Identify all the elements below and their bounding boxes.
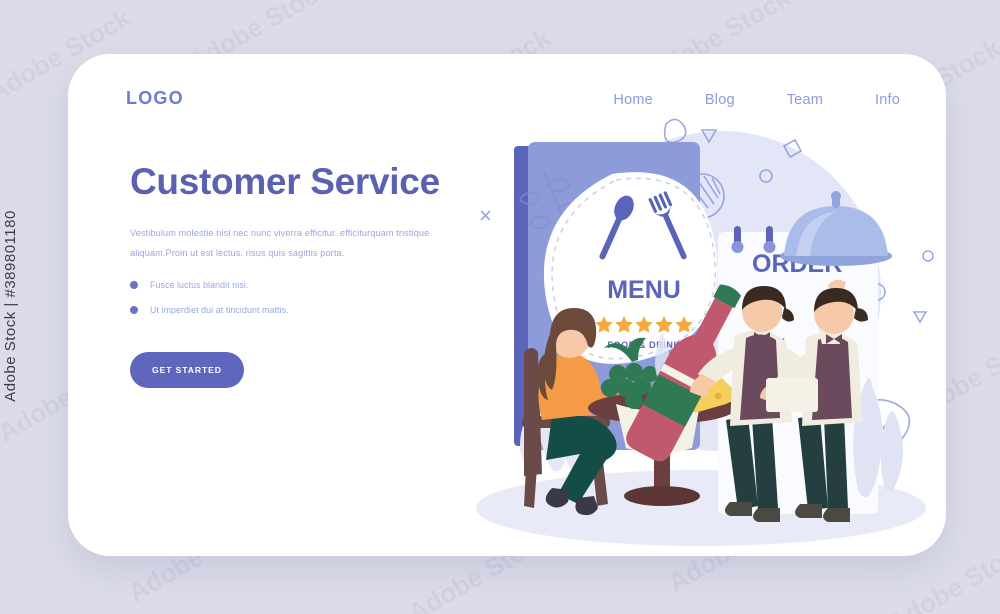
landing-page-card: LOGO Home Blog Team Info Customer Servic… <box>68 54 946 556</box>
nav-link-info[interactable]: Info <box>875 92 900 108</box>
bullet-dot-icon <box>130 281 138 289</box>
feature-list: Fusce luctus blandit nisi. Ut imperdiet … <box>130 280 460 315</box>
list-item-label: Fusce luctus blandit nisi. <box>150 280 248 290</box>
screenshot-root: Adobe Stock Adobe Stock Adobe Stock Adob… <box>0 0 1000 614</box>
restaurant-illustration: MENU FOOD & DRINK <box>466 116 936 546</box>
logo[interactable]: LOGO <box>126 88 184 109</box>
menu-title: MENU <box>607 276 681 304</box>
decorative-plant-right <box>853 378 903 497</box>
list-item: Ut imperdiet dui at tincidunt mattis. <box>130 305 460 315</box>
list-item: Fusce luctus blandit nisi. <box>130 280 460 290</box>
main-navigation: Home Blog Team Info <box>613 92 900 108</box>
nav-link-team[interactable]: Team <box>787 92 823 108</box>
nav-link-blog[interactable]: Blog <box>705 92 735 108</box>
get-started-button[interactable]: GET STARTED <box>130 352 244 388</box>
hero-copy: Customer Service Vestibulum molestie nis… <box>130 162 460 388</box>
adobe-stock-watermark: Adobe Stock | #389801180 <box>2 210 19 402</box>
nav-link-home[interactable]: Home <box>613 92 652 108</box>
list-item-label: Ut imperdiet dui at tincidunt mattis. <box>150 305 289 315</box>
bullet-dot-icon <box>130 306 138 314</box>
page-title: Customer Service <box>130 162 460 202</box>
hero-paragraph: Vestibulum molestie nisl nec nunc viverr… <box>130 224 460 264</box>
